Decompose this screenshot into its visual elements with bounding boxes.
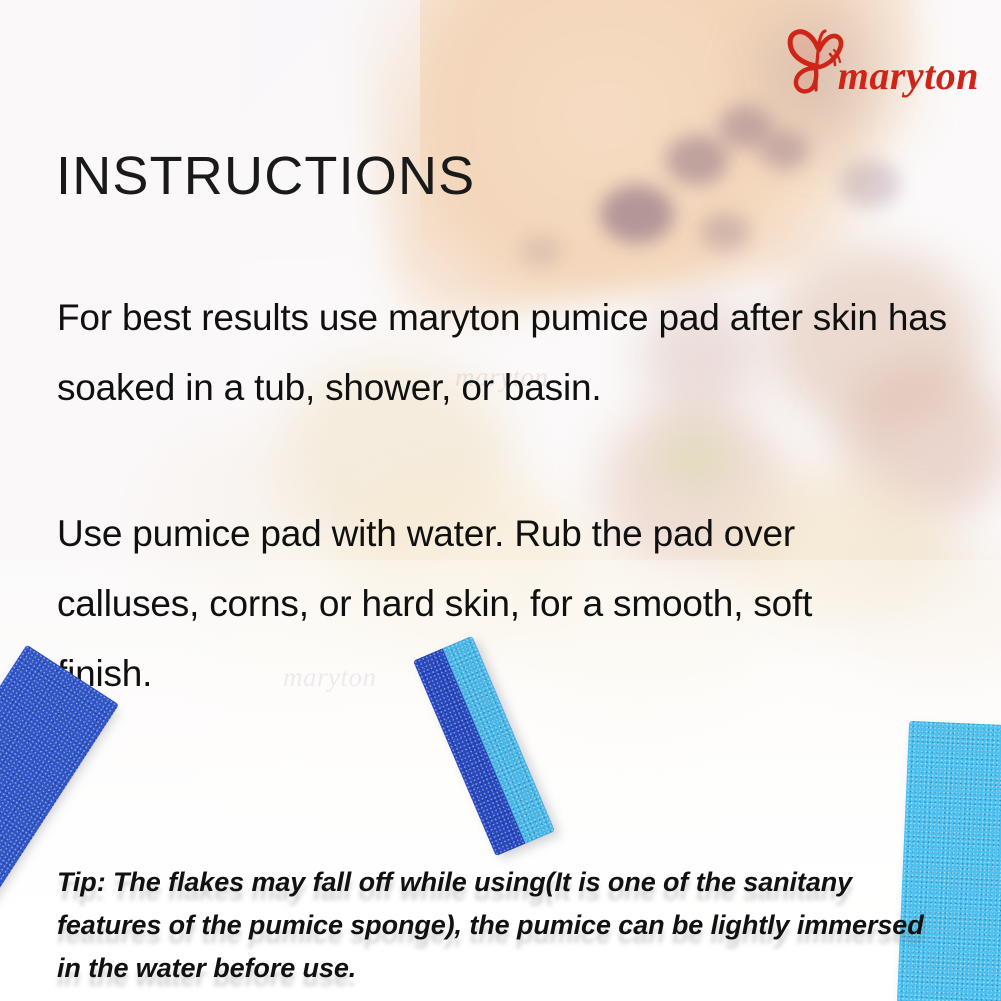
toenail: [840, 160, 900, 208]
blurred-leaf: [660, 430, 730, 490]
toenail: [666, 135, 728, 185]
page-title: INSTRUCTIONS: [56, 149, 475, 203]
butterfly-icon: [786, 28, 844, 100]
brand-logo: maryton: [786, 24, 979, 100]
instruction-paragraph-1: For best results use maryton pumice pad …: [57, 283, 987, 423]
instruction-card: maryton maryton maryton INSTRUCTIONS For…: [0, 0, 1001, 1001]
tip-note: Tip: The flakes may fall off while using…: [57, 861, 937, 990]
toenail: [600, 185, 674, 243]
toenail: [760, 130, 808, 170]
brand-wordmark: maryton: [838, 56, 979, 96]
toenail: [700, 213, 750, 251]
toenail: [520, 235, 562, 267]
